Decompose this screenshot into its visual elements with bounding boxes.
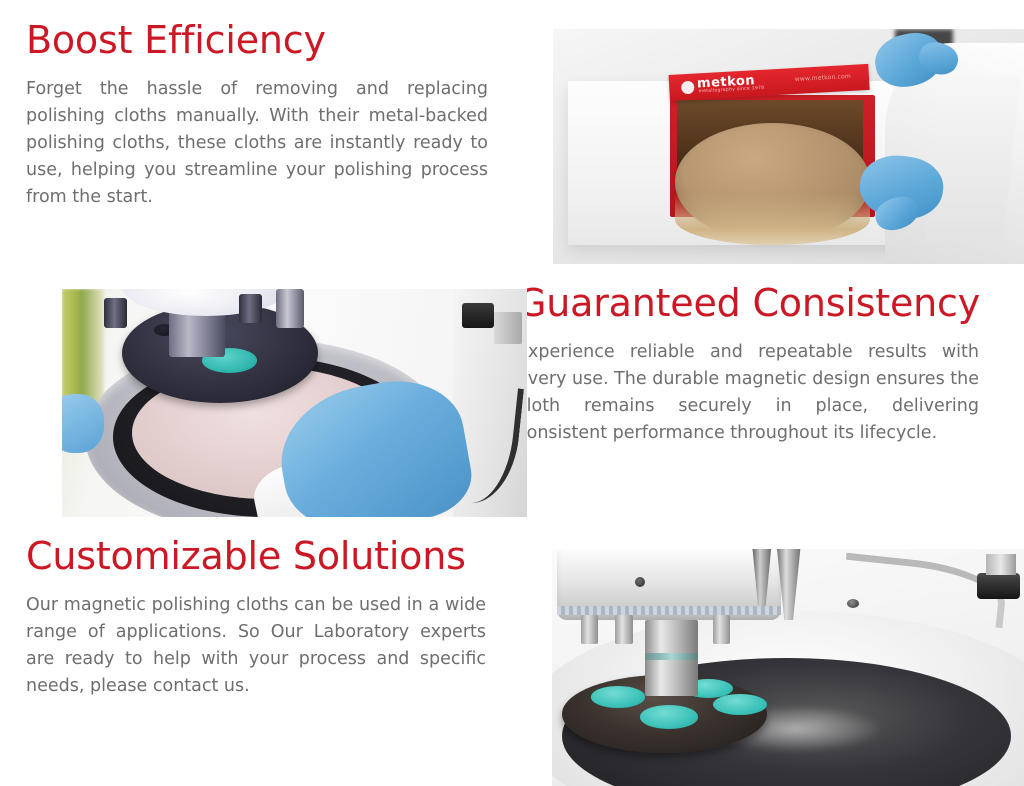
machine-latch — [494, 312, 522, 344]
section-customizable-solutions: Customizable Solutions Our magnetic poli… — [26, 534, 486, 700]
metkon-url-label: www.metkon.com — [795, 72, 852, 82]
photo-polishing-machine — [62, 289, 527, 517]
machine-post — [276, 289, 304, 328]
heading-guaranteed-consistency: Guaranteed Consistency — [517, 281, 979, 325]
photo-metkon-box: metkon metallography since 1978 www.metk… — [553, 29, 1024, 264]
marketing-page: Boost Efficiency Forget the hassle of re… — [0, 0, 1024, 784]
spindle-ring — [645, 653, 699, 660]
machine-fitting — [986, 554, 1015, 575]
section-boost-efficiency: Boost Efficiency Forget the hassle of re… — [26, 18, 488, 211]
photo-polishing-head — [552, 549, 1024, 786]
head-piston-leg — [581, 615, 598, 643]
head-piston-leg — [615, 615, 632, 643]
machine-post — [104, 298, 127, 328]
body-guaranteed-consistency: Experience reliable and repeatable resul… — [517, 339, 979, 447]
metkon-box-scene: metkon metallography since 1978 www.metk… — [553, 29, 1024, 264]
polishing-machine-scene — [62, 289, 527, 517]
polishing-head-scene — [552, 549, 1024, 786]
polishing-cloth-disc-edge — [675, 194, 870, 246]
machine-knob — [977, 573, 1021, 599]
head-housing-band — [557, 606, 781, 615]
body-boost-efficiency: Forget the hassle of removing and replac… — [26, 76, 488, 211]
body-customizable-solutions: Our magnetic polishing cloths can be use… — [26, 592, 486, 700]
teal-specimen-pad — [591, 686, 645, 707]
heading-boost-efficiency: Boost Efficiency — [26, 18, 488, 62]
machine-knob-dark — [462, 303, 495, 328]
metkon-logo-icon — [681, 80, 695, 94]
head-piston-leg — [713, 615, 730, 643]
teal-specimen-pad — [640, 705, 699, 729]
teal-specimen-pad — [713, 694, 767, 715]
section-guaranteed-consistency: Guaranteed Consistency Experience reliab… — [517, 281, 979, 447]
heading-customizable-solutions: Customizable Solutions — [26, 534, 486, 578]
machine-post — [239, 294, 262, 324]
